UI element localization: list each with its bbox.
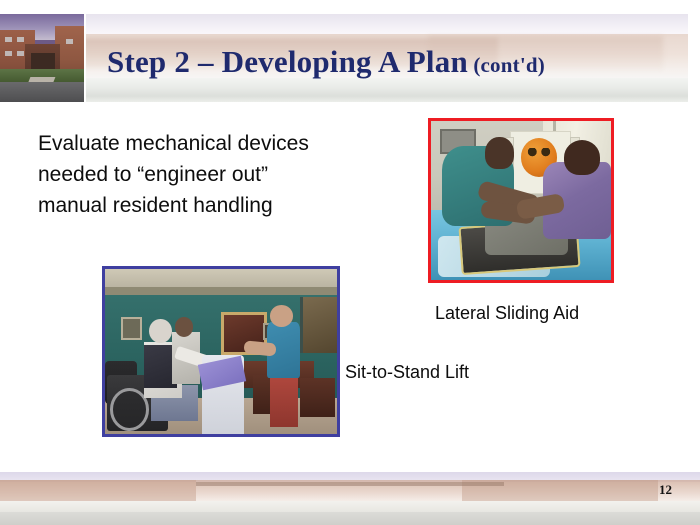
photo-lateral-sliding-aid xyxy=(428,118,614,283)
photo-caregiver-head xyxy=(485,137,514,169)
photo-second-caregiver-head xyxy=(564,140,600,175)
thumbnail-window xyxy=(17,37,24,42)
footer-roofline xyxy=(196,482,504,486)
slide-title-continued: (cont'd) xyxy=(473,53,545,77)
thumbnail-window xyxy=(66,39,73,44)
facility-exterior-thumbnail xyxy=(0,14,86,102)
page-number: 12 xyxy=(659,482,672,498)
thumbnail-window xyxy=(17,51,24,56)
slide-body-text: Evaluate mechanical devices needed to “e… xyxy=(38,128,338,221)
thumbnail-parking-lot xyxy=(0,82,84,102)
photo-window xyxy=(300,297,337,353)
caption-lateral-sliding-aid: Lateral Sliding Aid xyxy=(435,303,579,324)
slide-title-main: Step 2 – Developing A Plan xyxy=(107,44,468,79)
slide-footer-banner xyxy=(0,472,700,525)
photo-caregiver-head xyxy=(175,317,194,337)
photo-staff-head xyxy=(270,305,293,326)
photo-ceiling xyxy=(105,269,337,289)
presentation-slide: Step 2 – Developing A Plan (cont'd) Eval… xyxy=(0,0,700,525)
thumbnail-window xyxy=(5,51,12,56)
photo-crown-molding xyxy=(105,287,337,295)
photo-staff-legs xyxy=(270,375,298,428)
thumbnail-window xyxy=(5,37,12,42)
photo-chair xyxy=(300,378,335,418)
photo-sit-to-stand-lift xyxy=(102,266,340,437)
header-ground xyxy=(0,78,691,102)
footer-road xyxy=(0,512,700,525)
slide-title: Step 2 – Developing A Plan (cont'd) xyxy=(107,44,545,80)
photo-small-artwork xyxy=(121,317,142,340)
photo-wheelchair-wheel xyxy=(110,388,149,431)
header-right-edge xyxy=(688,14,691,102)
caption-sit-to-stand-lift: Sit-to-Stand Lift xyxy=(345,362,469,383)
